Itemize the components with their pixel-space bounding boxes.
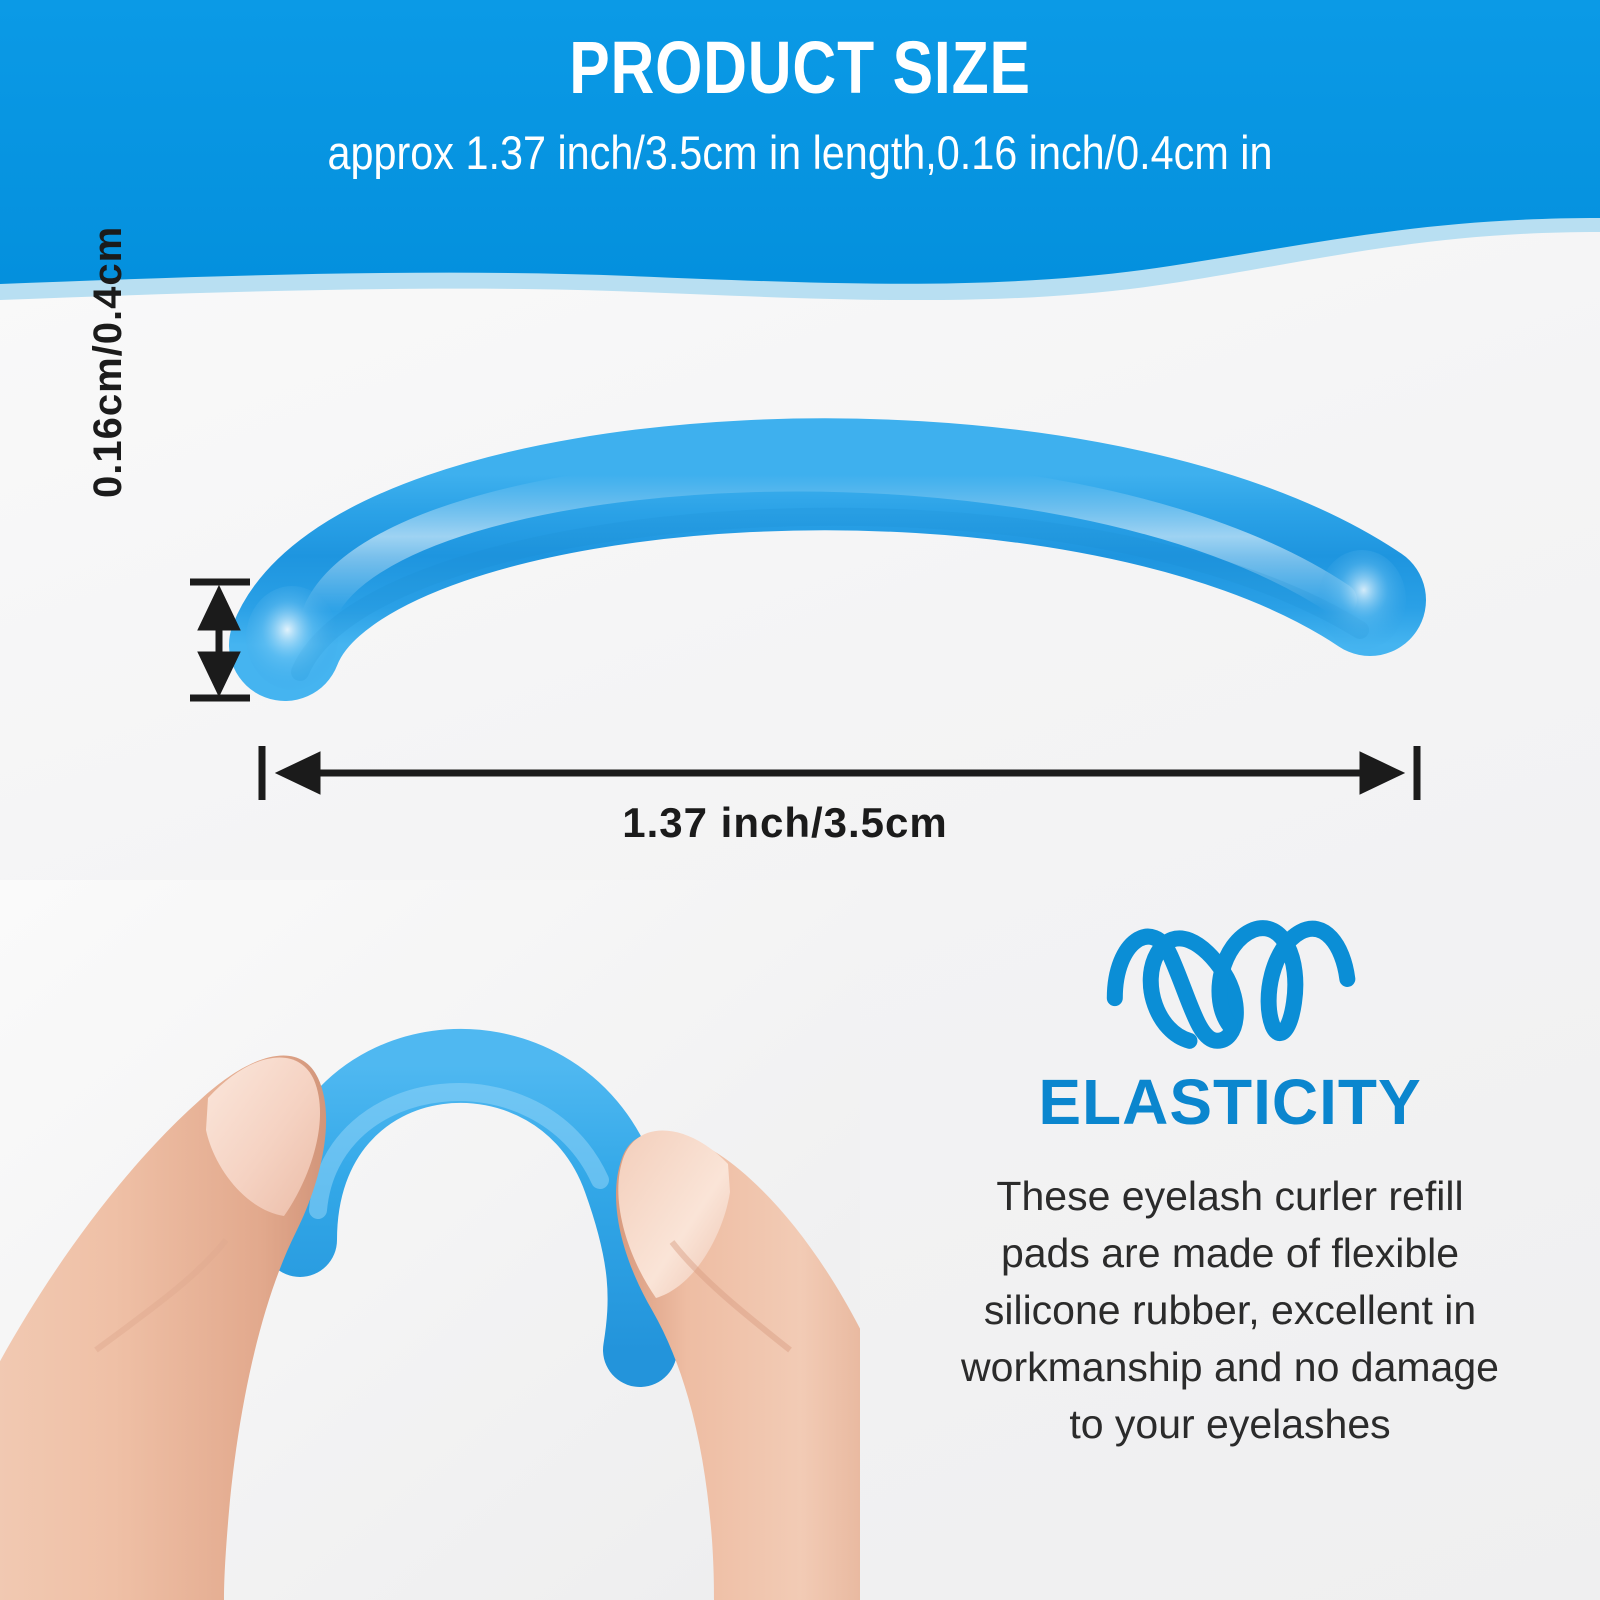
- product-dimension-diagram: [0, 300, 1600, 880]
- fingers-bending-product-photo: [0, 880, 860, 1600]
- page-title: PRODUCT SIZE: [144, 0, 1456, 110]
- product-infographic: PRODUCT SIZE approx 1.37 inch/3.5cm in l…: [0, 0, 1600, 1600]
- silicone-pad-product: [246, 474, 1406, 690]
- elasticity-feature-block: ELASTICITY These eyelash curler refill p…: [880, 900, 1580, 1560]
- feature-description-line: These eyelash curler refill: [930, 1168, 1530, 1225]
- fingers-photo-svg: [0, 880, 860, 1600]
- vertical-dim-arrow-up: [198, 586, 240, 630]
- header-banner: PRODUCT SIZE approx 1.37 inch/3.5cm in l…: [0, 0, 1600, 300]
- silicone-pad-right-cap: [1318, 550, 1406, 650]
- horizontal-dim-arrow-right: [1360, 752, 1404, 794]
- vertical-dimension-label: 0.16cm/0.4cm: [86, 188, 130, 498]
- feature-description-line: silicone rubber, excellent in: [930, 1282, 1530, 1339]
- dimension-diagram-svg: [0, 300, 1600, 880]
- horizontal-dimension-label: 1.37 inch/3.5cm: [0, 798, 1600, 848]
- horizontal-dimension-annotation: [262, 746, 1417, 800]
- feature-description-line: to your eyelashes: [930, 1396, 1530, 1453]
- header-text-block: PRODUCT SIZE approx 1.37 inch/3.5cm in l…: [0, 0, 1600, 180]
- silicone-pad-left-cap: [246, 586, 338, 690]
- feature-description-line: pads are made of flexible: [930, 1225, 1530, 1282]
- vertical-dim-arrow-down: [198, 652, 240, 696]
- feature-title: ELASTICITY: [880, 1060, 1580, 1138]
- horizontal-dimension-label-text: 1.37 inch/3.5cm: [622, 798, 948, 848]
- page-subtitle: approx 1.37 inch/3.5cm in length,0.16 in…: [96, 110, 1504, 180]
- feature-description-line: workmanship and no damage: [930, 1339, 1530, 1396]
- feature-description: These eyelash curler refill pads are mad…: [930, 1138, 1530, 1453]
- spring-coil-icon: [880, 900, 1580, 1060]
- horizontal-dim-arrow-left: [276, 752, 320, 794]
